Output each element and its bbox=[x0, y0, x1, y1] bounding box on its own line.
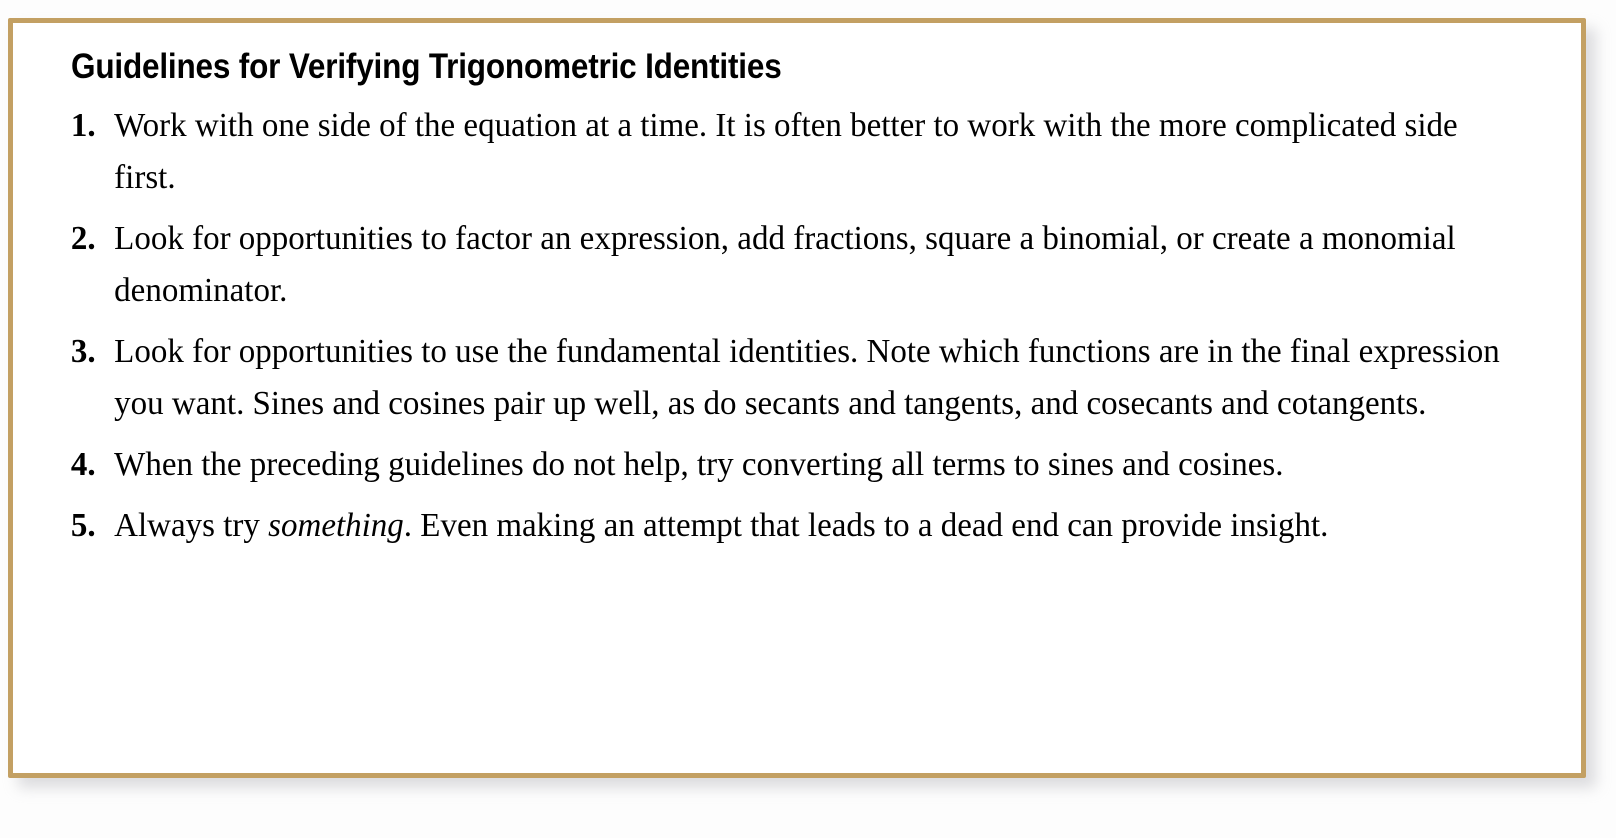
list-item-number: 1. bbox=[71, 100, 96, 152]
list-item-text: Always try something. Even making an att… bbox=[114, 500, 1513, 552]
list-item-number: 3. bbox=[71, 326, 96, 378]
page-title: Guidelines for Verifying Trigonometric I… bbox=[71, 45, 1389, 89]
list-item-number: 4. bbox=[71, 439, 96, 491]
list-item: 5. Always try something. Even making an … bbox=[60, 500, 1513, 552]
list-item-text-segment: Look for opportunities to use the fundam… bbox=[114, 333, 1500, 422]
list-item: 1. Work with one side of the equation at… bbox=[60, 100, 1513, 204]
list-item: 3. Look for opportunities to use the fun… bbox=[60, 326, 1513, 430]
list-item: 4. When the preceding guidelines do not … bbox=[60, 439, 1513, 491]
card-content: Guidelines for Verifying Trigonometric I… bbox=[13, 23, 1581, 773]
list-item-number: 5. bbox=[71, 500, 96, 552]
list-item-text-segment: . Even making an attempt that leads to a… bbox=[404, 507, 1329, 544]
guidelines-list: 1. Work with one side of the equation at… bbox=[60, 100, 1535, 552]
emphasized-word: something bbox=[268, 507, 404, 544]
page-background: Guidelines for Verifying Trigonometric I… bbox=[0, 0, 1616, 838]
list-item-text: Look for opportunities to factor an expr… bbox=[114, 213, 1513, 317]
list-item-number: 2. bbox=[71, 213, 96, 265]
list-item-text-segment: Work with one side of the equation at a … bbox=[114, 107, 1457, 196]
list-item: 2. Look for opportunities to factor an e… bbox=[60, 213, 1513, 317]
guidelines-card: Guidelines for Verifying Trigonometric I… bbox=[8, 18, 1586, 778]
list-item-text-segment: Always try bbox=[114, 507, 268, 544]
list-item-text: Work with one side of the equation at a … bbox=[114, 100, 1513, 204]
list-item-text-segment: Look for opportunities to factor an expr… bbox=[114, 220, 1455, 309]
list-item-text: Look for opportunities to use the fundam… bbox=[114, 326, 1513, 430]
list-item-text: When the preceding guidelines do not hel… bbox=[114, 439, 1513, 491]
list-item-text-segment: When the preceding guidelines do not hel… bbox=[114, 446, 1283, 483]
